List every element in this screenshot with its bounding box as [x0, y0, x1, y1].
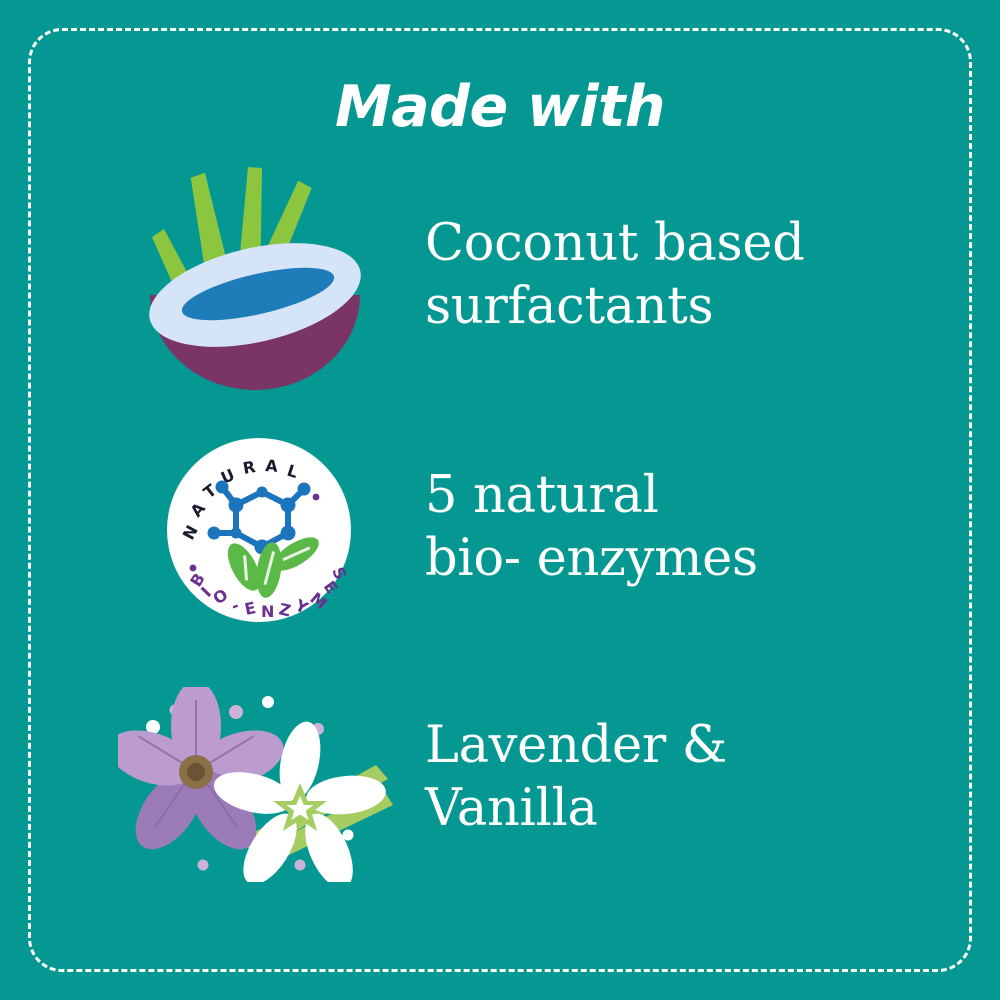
svg-text:N: N: [261, 602, 274, 621]
flowers-icon-cell: [0, 662, 400, 892]
ingredient-row-coconut: Coconut based surfactants: [0, 160, 1000, 390]
page-title: Made with: [0, 74, 1000, 140]
ingredient-label-flowers: Lavender & Vanilla: [400, 714, 1000, 840]
ingredient-row-flowers: Lavender & Vanilla: [0, 662, 1000, 892]
ingredient-label-coconut: Coconut based surfactants: [400, 212, 1000, 338]
svg-text:A: A: [265, 456, 279, 476]
coconut-icon-cell: [0, 160, 400, 390]
lavender-vanilla-flowers-icon: [118, 687, 393, 882]
ingredient-row-bio-enzymes: N A T U R A L B I O: [0, 412, 1000, 642]
ingredient-line: Coconut based: [425, 212, 1000, 275]
ingredient-line: bio- enzymes: [425, 527, 1000, 590]
ingredient-line: Vanilla: [425, 777, 1000, 840]
ingredient-line: 5 natural: [425, 464, 1000, 527]
coconut-icon: [140, 165, 370, 390]
bio-enzymes-badge-icon: N A T U R A L B I O: [166, 437, 352, 623]
ingredient-line: surfactants: [425, 275, 1000, 338]
ingredient-label-bio-enzymes: 5 natural bio- enzymes: [400, 464, 1000, 590]
ingredient-line: Lavender &: [425, 714, 1000, 777]
bio-enzymes-icon-cell: N A T U R A L B I O: [0, 412, 400, 642]
